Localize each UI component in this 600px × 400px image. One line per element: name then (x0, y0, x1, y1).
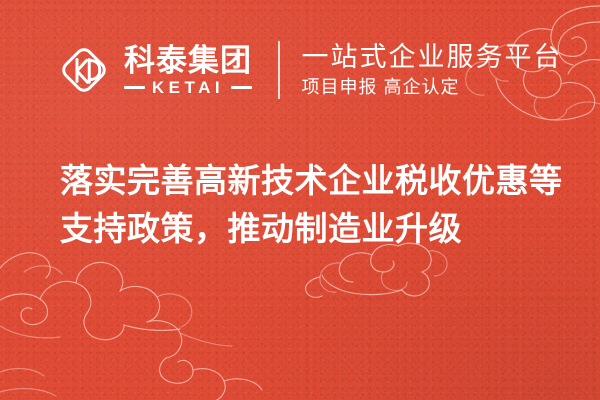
headline-line-2: 支持政策，推动制造业升级 (60, 205, 560, 253)
dash-left (124, 86, 145, 89)
cloud-wisp-icon (0, 369, 56, 396)
logo-wordmark: 科泰集团 KETAI (124, 45, 252, 96)
banner-header: 科泰集团 KETAI 一站式企业服务平台 项目申报 高企认定 (0, 0, 600, 140)
company-name-en: KETAI (152, 79, 224, 96)
promo-banner: 科泰集团 KETAI 一站式企业服务平台 项目申报 高企认定 落实完善高新技术企… (0, 0, 600, 400)
company-name-cn: 科泰集团 (124, 45, 252, 76)
ketai-diamond-monogram-icon (56, 42, 112, 98)
brand-logo[interactable]: 科泰集团 KETAI (56, 42, 252, 98)
dash-right (231, 86, 252, 89)
cloud-lower-left-icon (0, 253, 262, 400)
headline-line-1: 落实完善高新技术企业税收优惠等 (60, 157, 560, 205)
headline-block: 落实完善高新技术企业税收优惠等 支持政策，推动制造业升级 (60, 157, 560, 253)
company-name-en-row: KETAI (124, 79, 252, 96)
header-divider (278, 41, 280, 99)
tagline-main: 一站式企业服务平台 (302, 43, 563, 71)
tagline-sub: 项目申报 高企认定 (302, 78, 563, 97)
tagline-block: 一站式企业服务平台 项目申报 高企认定 (302, 43, 563, 96)
